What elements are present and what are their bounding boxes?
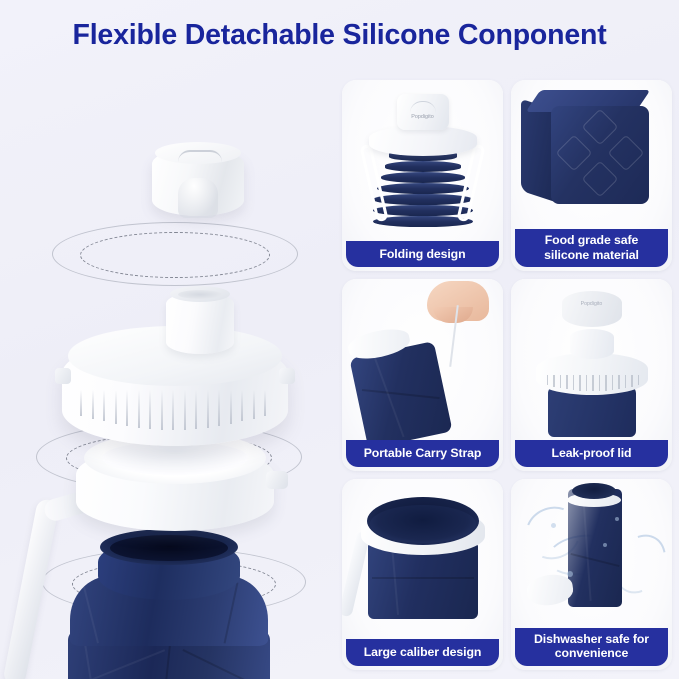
large-caliber-mouth-opening [370,505,476,543]
lid-tab-right [279,368,295,384]
folding-collar [369,126,477,156]
emboss-icon-top [582,109,619,146]
part-top-cap [152,148,244,216]
brand-logo-text: Popdigito [406,113,440,121]
water-droplet-3 [567,571,573,577]
caption-folding-design: Folding design [346,241,499,268]
emboss-icon-right [608,135,645,172]
folding-cap: Popdigito [397,94,449,130]
caption-line-1: Food grade safe [519,233,664,248]
caption-line-1: Dishwasher safe for [519,632,664,647]
feature-card-folding-design[interactable]: Popdigito Folding design [342,80,503,271]
lid-thread-ridges [74,390,276,436]
water-droplet-2 [603,543,607,547]
caption-line-2: silicone material [519,248,664,263]
caption-large-caliber-design: Large caliber design [346,639,499,666]
caption-dishwasher-safe: Dishwasher safe for convenience [515,628,668,666]
page-title: Flexible Detachable Silicone Conponent [73,19,607,52]
part-collar-ring [76,445,274,531]
feature-card-food-grade-silicone[interactable]: Food grade safe silicone material [511,80,672,271]
part-silicone-body [66,538,272,679]
caption-food-grade-silicone: Food grade safe silicone material [515,229,668,267]
hand-icon [427,281,489,321]
lid-tab-left [55,368,71,384]
water-droplet-1 [551,523,556,528]
cap-logo-arc-icon [178,150,222,162]
feature-card-dishwasher-safe[interactable]: Dishwasher safe for convenience [511,479,672,670]
body-neck-opening [110,535,228,561]
brand-logo-text: Popdigito [570,301,614,308]
title-bar: Flexible Detachable Silicone Conponent [0,0,679,70]
part-threaded-lid [62,338,288,446]
caption-portable-carry-strap: Portable Carry Strap [346,440,499,467]
collar-ring-tab [266,471,288,489]
emboss-icon-bottom [582,161,619,198]
emboss-icon-left [556,135,593,172]
feature-card-leak-proof-lid[interactable]: Popdigito Leak-proof lid [511,279,672,470]
part-drinking-spout [166,292,234,354]
leakproof-cap: Popdigito [562,291,622,327]
feature-card-grid: Popdigito Folding design Food grade safe… [342,80,672,670]
cap-arc-icon [410,101,436,113]
water-droplet-4 [615,517,619,521]
caption-leak-proof-lid: Leak-proof lid [515,440,668,467]
silicone-block-side [521,99,553,201]
silicone-block-face [551,106,649,204]
leakproof-threaded-lid [536,353,648,395]
feature-card-portable-carry-strap[interactable]: Portable Carry Strap [342,279,503,470]
alignment-ellipse-inner-top [80,232,270,278]
leakproof-spout [570,329,614,359]
leakproof-lid-ridges [544,375,640,395]
feature-card-large-caliber-design[interactable]: Large caliber design [342,479,503,670]
dishwasher-bottle-neck [572,483,616,499]
exploded-view-diagram [0,70,338,679]
product-infographic: Flexible Detachable Silicone Conponent [0,0,679,679]
caption-line-2: convenience [519,646,664,661]
